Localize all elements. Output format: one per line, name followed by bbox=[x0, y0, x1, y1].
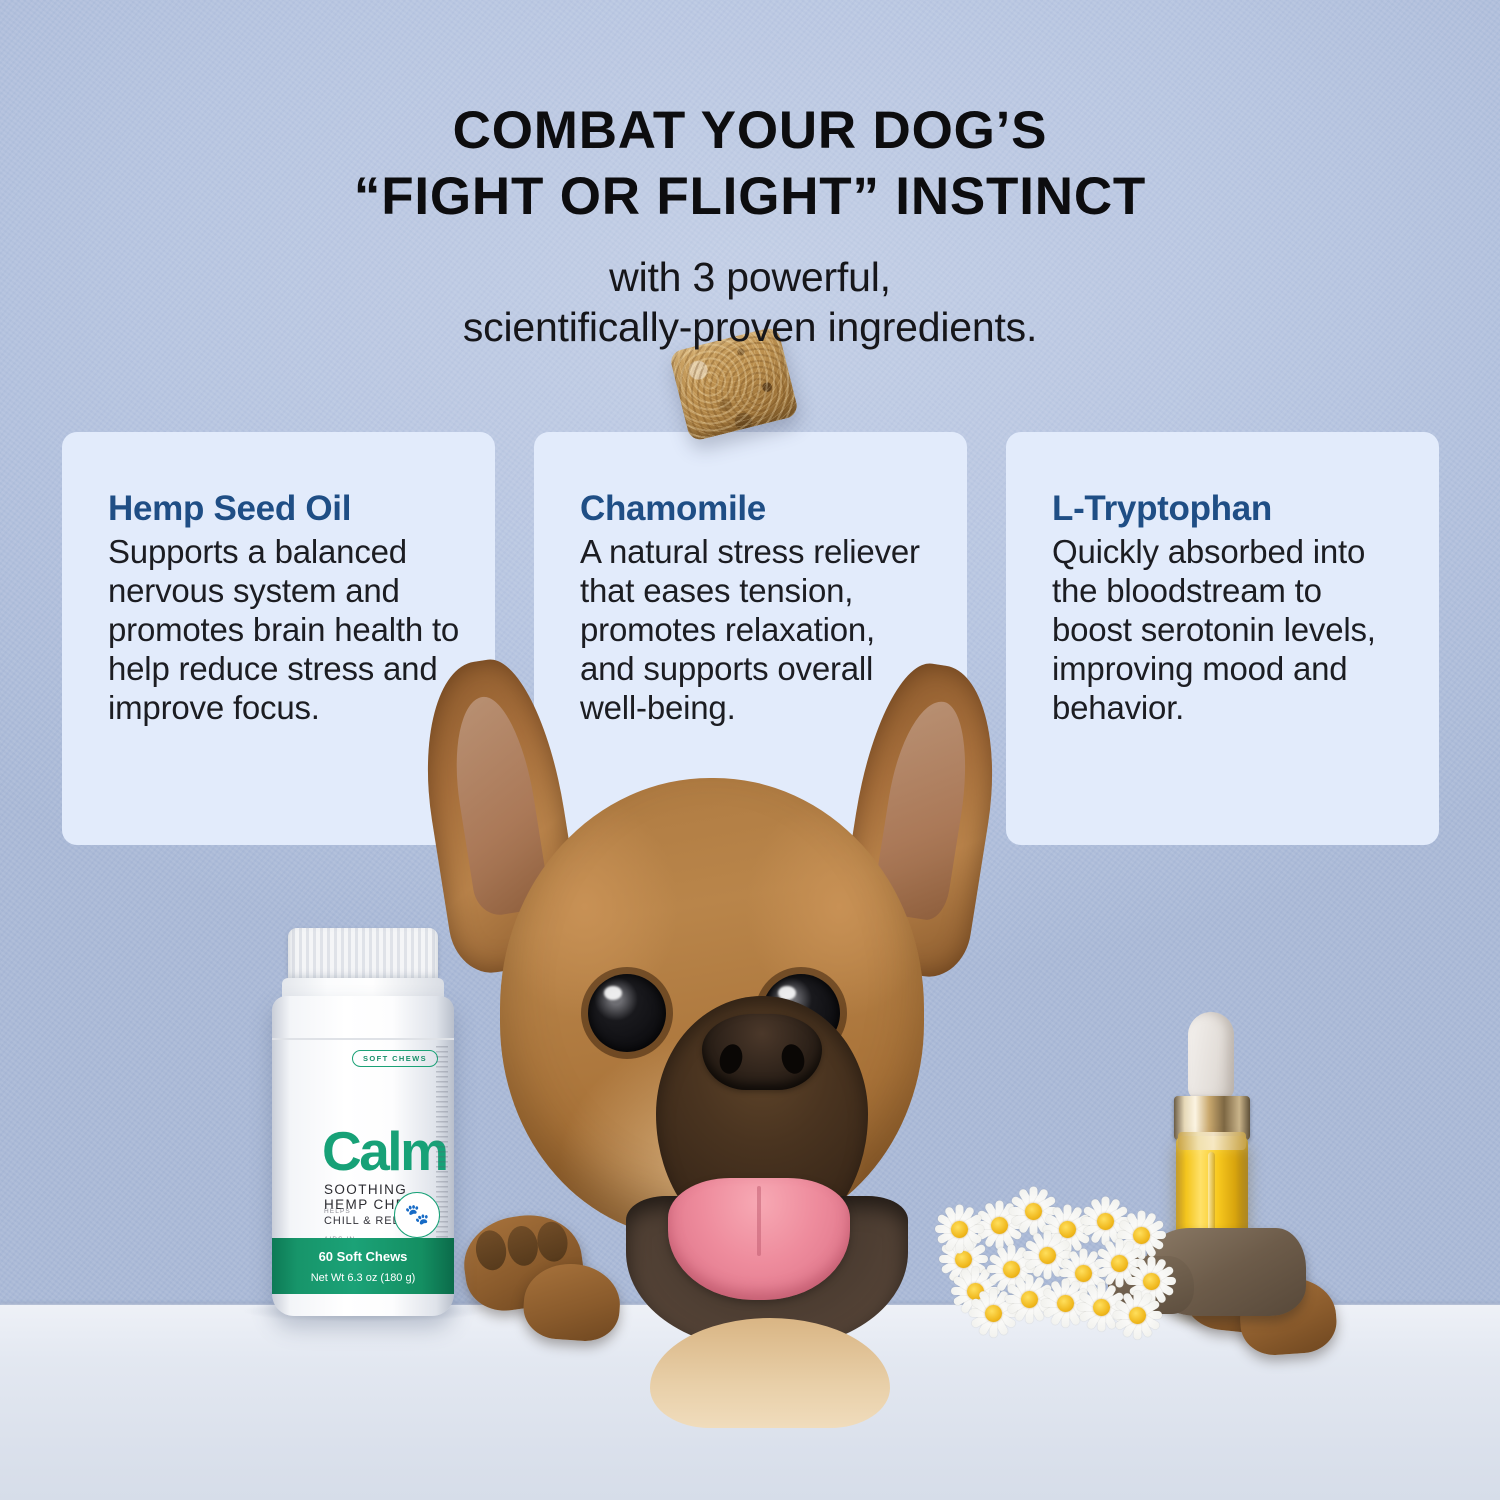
chamomile-flower bbox=[1112, 1290, 1162, 1340]
chamomile-flowers bbox=[930, 1182, 1170, 1318]
dog-nostril-right bbox=[778, 1042, 807, 1077]
ingredient-description: Quickly absorbed into the bloodstream to… bbox=[1052, 532, 1407, 727]
flower-center bbox=[1057, 1295, 1074, 1312]
product-net-weight: Net Wt 6.3 oz (180 g) bbox=[272, 1272, 454, 1284]
subtitle-line1: with 3 powerful, bbox=[0, 252, 1500, 302]
dog-head bbox=[500, 778, 924, 1238]
flower-center bbox=[985, 1305, 1002, 1322]
flower-center bbox=[1093, 1299, 1110, 1316]
dropper-glass-neck bbox=[1178, 1132, 1246, 1150]
label-top-rule bbox=[272, 1038, 454, 1040]
flower-center bbox=[1097, 1213, 1114, 1230]
dog-nostril-left bbox=[716, 1042, 745, 1077]
flower-center bbox=[1111, 1255, 1128, 1272]
ingredient-title: Hemp Seed Oil bbox=[108, 488, 463, 530]
ingredient-card-l-tryptophan: L-Tryptophan Quickly absorbed into the b… bbox=[1006, 432, 1439, 845]
page-title-line2: “FIGHT OR FLIGHT” INSTINCT bbox=[0, 164, 1500, 230]
soft-chews-badge: SOFT CHEWS bbox=[352, 1050, 438, 1067]
bottle-label: SOFT CHEWS PetJoy HAPPY HEALTHY PETS Cal… bbox=[272, 996, 454, 1316]
paw-print-icon: 🐾 bbox=[405, 1205, 430, 1225]
header-block: COMBAT YOUR DOG’S “FIGHT OR FLIGHT” INST… bbox=[0, 98, 1500, 352]
chamomile-flower bbox=[934, 1204, 984, 1254]
subtitle-line2: scientifically-proven ingredients. bbox=[0, 302, 1500, 352]
label-green-band bbox=[272, 1238, 454, 1294]
flower-center bbox=[951, 1221, 968, 1238]
flower-center bbox=[1021, 1291, 1038, 1308]
flower-center bbox=[1143, 1273, 1160, 1290]
dropper-bulb bbox=[1188, 1012, 1234, 1100]
product-bottle: SOFT CHEWS PetJoy HAPPY HEALTHY PETS Cal… bbox=[252, 928, 474, 1318]
dog-eye-left bbox=[588, 974, 666, 1052]
page-title-line1: COMBAT YOUR DOG’S bbox=[0, 98, 1500, 164]
subtitle-block: with 3 powerful, scientifically-proven i… bbox=[0, 252, 1500, 352]
dog-nose bbox=[702, 1014, 822, 1090]
dog-toe bbox=[535, 1220, 570, 1264]
ingredient-title: L-Tryptophan bbox=[1052, 488, 1407, 530]
product-count: 60 Soft Chews bbox=[272, 1249, 454, 1264]
product-name: Calm bbox=[322, 1124, 447, 1179]
dog-toe bbox=[505, 1224, 540, 1268]
flower-center bbox=[1129, 1307, 1146, 1324]
bottle-cap bbox=[288, 928, 438, 982]
dog-toe bbox=[473, 1228, 508, 1272]
flower-center bbox=[1039, 1247, 1056, 1264]
flower-center bbox=[1025, 1203, 1042, 1220]
flower-center bbox=[991, 1217, 1008, 1234]
paw-print-badge: 🐾 bbox=[394, 1192, 440, 1238]
ingredient-title: Chamomile bbox=[580, 488, 935, 530]
